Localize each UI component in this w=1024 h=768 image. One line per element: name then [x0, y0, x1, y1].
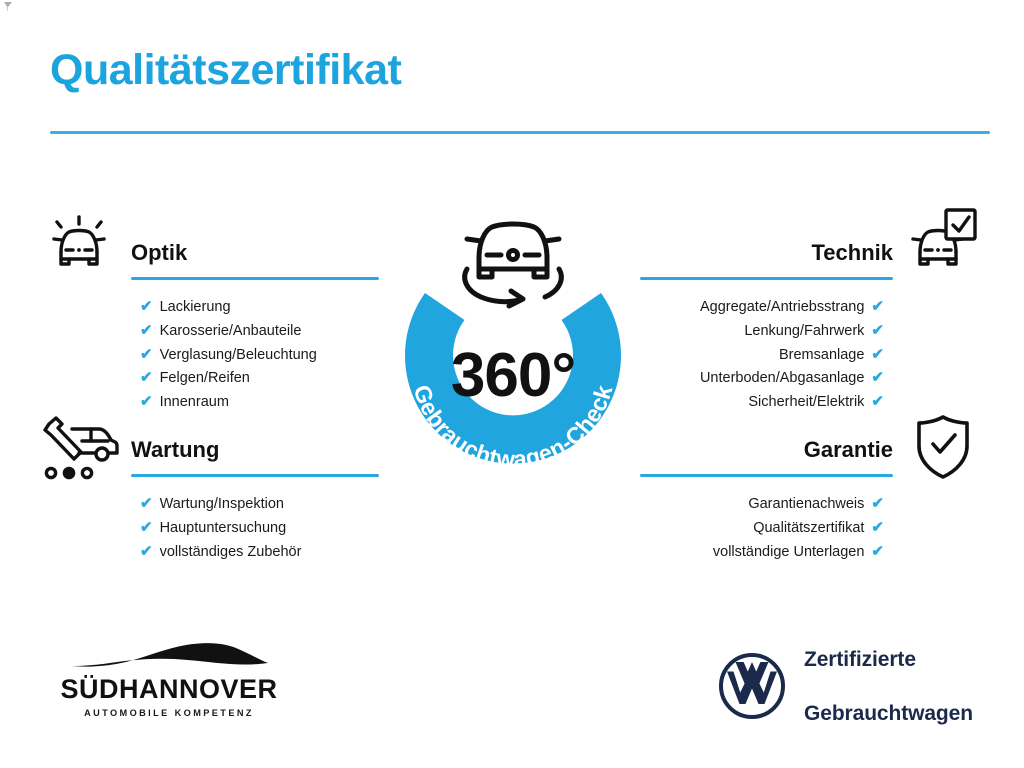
brand-logo: Zertifizierte Gebrauchtwagen [718, 643, 988, 729]
check-icon: ✔ [871, 544, 884, 559]
section-optik-divider [131, 277, 379, 280]
check-icon: ✔ [871, 370, 884, 385]
list-item-label: Unterboden/Abgasanlage [700, 367, 864, 391]
list-item: ✔ Innenraum [131, 391, 379, 415]
list-item: Bremsanlage ✔ [640, 344, 893, 368]
section-technik-divider [640, 277, 893, 280]
dealer-logo: SÜDHANNOVER AUTOMOBILE KOMPETENZ [44, 636, 294, 732]
section-wartung-title: Wartung [131, 435, 379, 465]
check-icon: ✔ [871, 323, 884, 338]
dealer-name: SÜDHANNOVER [44, 674, 294, 705]
vw-logo-icon [718, 652, 786, 720]
list-item-label: Verglasung/Beleuchtung [160, 344, 317, 368]
360-gebrauchtwagen-check-badge: Gebrauchtwagen-Check 360° [375, 193, 651, 493]
list-item-label: Hauptuntersuchung [160, 517, 287, 541]
list-item: Unterboden/Abgasanlage ✔ [640, 367, 893, 391]
list-item: ✔ Felgen/Reifen [131, 367, 379, 391]
badge-value: 360° [451, 341, 575, 410]
list-item-label: Felgen/Reifen [160, 367, 250, 391]
list-item: ✔ Karosserie/Anbauteile [131, 320, 379, 344]
check-icon: ✔ [140, 520, 153, 535]
list-item-label: Innenraum [160, 391, 229, 415]
brand-logo-line2: Gebrauchtwagen [804, 700, 973, 727]
list-item: ✔ Verglasung/Beleuchtung [131, 344, 379, 368]
car-service-tool-icon [42, 415, 120, 485]
section-technik-header: Technik [640, 238, 893, 282]
car-front-rotate-icon [465, 224, 562, 306]
shield-check-icon [912, 412, 974, 482]
section-optik-list: ✔ Lackierung ✔ Karosserie/Anbauteile ✔ V… [131, 296, 379, 415]
list-item: Aggregate/Antriebsstrang ✔ [640, 296, 893, 320]
section-garantie-list: Garantienachweis ✔ Qualitätszertifikat ✔… [640, 493, 893, 564]
section-wartung-header: Wartung [131, 435, 379, 479]
list-item: ✔ Hauptuntersuchung [131, 517, 379, 541]
list-item: vollständige Unterlagen ✔ [640, 541, 893, 565]
car-silhouette-icon [44, 636, 294, 676]
page-title: Qualitätszertifikat [50, 47, 401, 94]
car-front-sparkle-icon [44, 205, 116, 277]
list-item: Lenkung/Fahrwerk ✔ [640, 320, 893, 344]
section-technik-title: Technik [640, 238, 893, 268]
title-divider [50, 131, 990, 134]
certificate-page: Qualitätszertifikat [0, 0, 1024, 768]
list-item-label: Garantienachweis [748, 493, 864, 517]
section-technik-list: Aggregate/Antriebsstrang ✔ Lenkung/Fahrw… [640, 296, 893, 415]
section-technik: Technik Aggregate/Antriebsstrang ✔ Lenku… [640, 238, 893, 415]
brand-logo-text: Zertifizierte Gebrauchtwagen [804, 619, 973, 754]
check-icon: ✔ [140, 323, 153, 338]
list-item-label: vollständige Unterlagen [713, 541, 865, 565]
section-garantie-title: Garantie [640, 435, 893, 465]
check-icon: ✔ [871, 496, 884, 511]
section-garantie: Garantie Garantienachweis ✔ Qualitätszer… [640, 435, 893, 564]
check-icon: ✔ [871, 299, 884, 314]
check-icon: ✔ [140, 394, 153, 409]
section-wartung: Wartung ✔ Wartung/Inspektion ✔ Hauptunte… [131, 435, 379, 564]
list-item: Qualitätszertifikat ✔ [640, 517, 893, 541]
list-item: ✔ vollständiges Zubehör [131, 541, 379, 565]
list-item-label: Aggregate/Antriebsstrang [700, 296, 864, 320]
list-item-label: Lenkung/Fahrwerk [744, 320, 864, 344]
list-item: Garantienachweis ✔ [640, 493, 893, 517]
corner-artifact-icon [4, 2, 12, 11]
check-icon: ✔ [871, 520, 884, 535]
list-item-label: vollständiges Zubehör [160, 541, 302, 565]
section-optik: Optik ✔ Lackierung ✔ Karosserie/Anbautei… [131, 238, 379, 415]
section-wartung-list: ✔ Wartung/Inspektion ✔ Hauptuntersuchung… [131, 493, 379, 564]
dealer-tagline: AUTOMOBILE KOMPETENZ [44, 708, 294, 718]
check-icon: ✔ [871, 347, 884, 362]
section-garantie-divider [640, 474, 893, 477]
list-item: ✔ Lackierung [131, 296, 379, 320]
list-item-label: Lackierung [160, 296, 231, 320]
list-item-label: Karosserie/Anbauteile [160, 320, 302, 344]
section-optik-header: Optik [131, 238, 379, 282]
check-icon: ✔ [140, 347, 153, 362]
list-item: Sicherheit/Elektrik ✔ [640, 391, 893, 415]
list-item-label: Sicherheit/Elektrik [748, 391, 864, 415]
brand-logo-line1: Zertifizierte [804, 646, 973, 673]
list-item-label: Wartung/Inspektion [160, 493, 284, 517]
list-item-label: Qualitätszertifikat [753, 517, 864, 541]
check-icon: ✔ [140, 496, 153, 511]
check-icon: ✔ [140, 370, 153, 385]
car-front-checkbox-icon [906, 204, 980, 278]
section-garantie-header: Garantie [640, 435, 893, 479]
check-icon: ✔ [871, 394, 884, 409]
list-item-label: Bremsanlage [779, 344, 864, 368]
check-icon: ✔ [140, 299, 153, 314]
section-optik-title: Optik [131, 238, 379, 268]
list-item: ✔ Wartung/Inspektion [131, 493, 379, 517]
section-wartung-divider [131, 474, 379, 477]
check-icon: ✔ [140, 544, 153, 559]
